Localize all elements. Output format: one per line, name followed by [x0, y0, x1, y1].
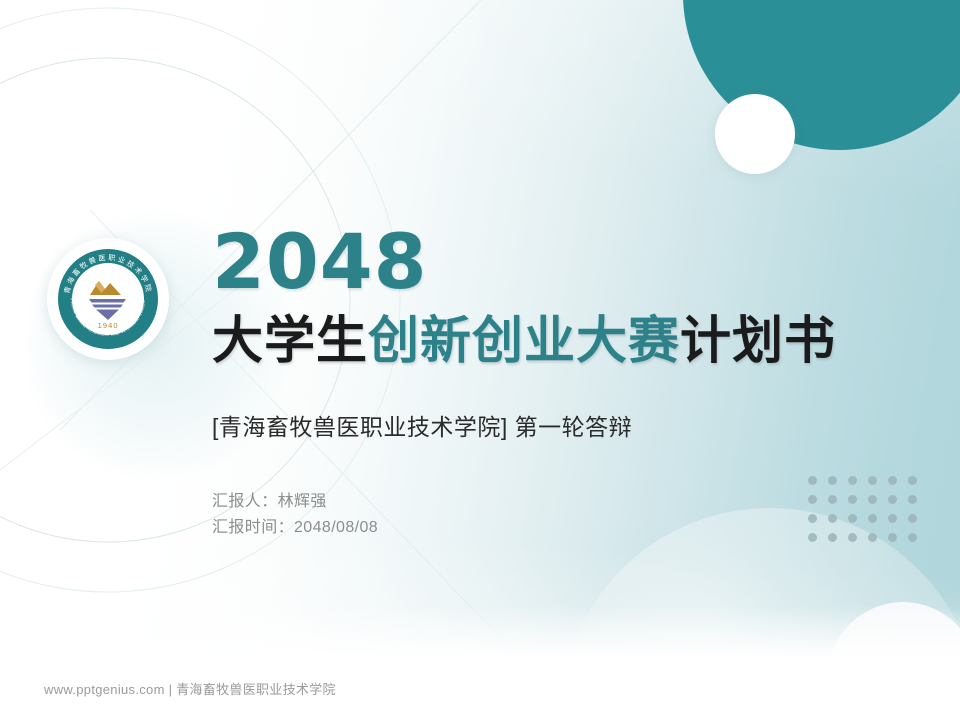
dot	[908, 514, 917, 523]
dot	[828, 476, 837, 485]
dot	[808, 514, 817, 523]
dot	[808, 533, 817, 542]
dot	[848, 533, 857, 542]
dot	[828, 495, 837, 504]
dot	[868, 514, 877, 523]
dot	[908, 495, 917, 504]
dot	[908, 476, 917, 485]
logo-emblem-icon: 青海畜牧兽医职业技术学院 QINGHAI ANIMAL HUSBANDRY AN…	[47, 238, 169, 360]
dot	[888, 514, 897, 523]
decor-dot-grid	[808, 476, 928, 552]
dot	[888, 533, 897, 542]
dot	[888, 495, 897, 504]
year-title: 2048	[212, 224, 428, 300]
headline-part-1: 大学生	[212, 312, 368, 369]
dot	[828, 533, 837, 542]
presenter-name: 汇报人：林辉强	[212, 489, 378, 515]
presenter-meta: 汇报人：林辉强 汇报时间：2048/08/08	[212, 489, 378, 542]
headline-part-2: 创新创业大赛	[368, 312, 680, 369]
svg-text:1940: 1940	[97, 322, 118, 330]
page-subtitle: [青海畜牧兽医职业技术学院] 第一轮答辩	[212, 408, 632, 442]
page-title: 大学生创新创业大赛计划书	[212, 313, 836, 368]
dot	[848, 514, 857, 523]
dot	[908, 533, 917, 542]
dot	[868, 476, 877, 485]
dot	[868, 533, 877, 542]
dot	[888, 476, 897, 485]
dot	[868, 495, 877, 504]
dot	[848, 495, 857, 504]
presentation-date: 汇报时间：2048/08/08	[212, 515, 378, 541]
dot	[848, 476, 857, 485]
dot	[828, 514, 837, 523]
footer-fade	[0, 606, 960, 658]
presentation-title-slide: 青海畜牧兽医职业技术学院 QINGHAI ANIMAL HUSBANDRY AN…	[0, 0, 960, 720]
dot	[808, 495, 817, 504]
dot	[808, 476, 817, 485]
decor-white-circle-top-right	[715, 94, 795, 174]
headline-part-3: 计划书	[680, 312, 836, 369]
footer-text: www.pptgenius.com | 青海畜牧兽医职业技术学院	[44, 679, 336, 698]
college-logo: 青海畜牧兽医职业技术学院 QINGHAI ANIMAL HUSBANDRY AN…	[47, 238, 169, 360]
